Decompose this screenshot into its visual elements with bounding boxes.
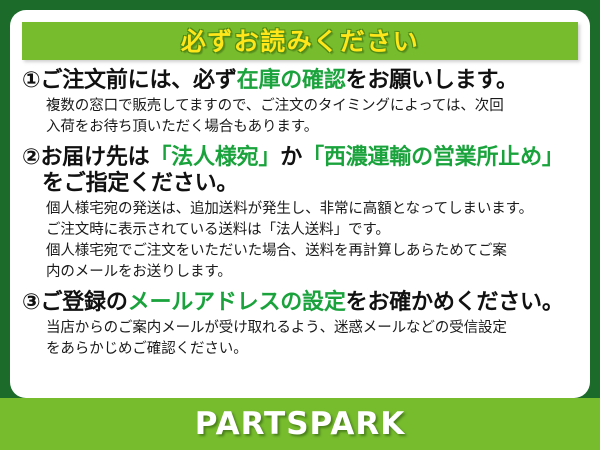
notice-list: ①ご注文前には、必ず在庫の確認をお願いします。複数の窓口で販売してますので、ご注… xyxy=(22,68,582,367)
detail-line: 複数の窓口で販売してますので、ご注文のタイミングによっては、次回 xyxy=(46,96,582,117)
notice-item-heading: ①ご注文前には、必ず在庫の確認をお願いします。 xyxy=(22,68,582,94)
detail-line: 当店からのご案内メールが受け取れるよう、迷惑メールなどの受信設定 xyxy=(46,318,582,339)
detail-line: 入荷をお待ち頂いただく場合もあります。 xyxy=(46,117,582,138)
heading-text: をお確かめください。 xyxy=(346,290,564,315)
heading-highlight: 「法人様宛」 xyxy=(149,145,280,170)
heading-highlight: 在庫の確認 xyxy=(237,68,346,93)
heading-text: ご注文前には、必ず xyxy=(40,68,236,93)
notice-item-detail: 複数の窓口で販売してますので、ご注文のタイミングによっては、次回入荷をお待ち頂い… xyxy=(22,96,582,138)
heading-text: ご登録の xyxy=(40,290,127,315)
brand-logo-text: PARTSPARK xyxy=(195,409,406,440)
notice-item-heading: ③ご登録のメールアドレスの設定をお確かめください。 xyxy=(22,290,582,316)
detail-line: 内のメールをお送りします。 xyxy=(46,262,582,283)
item-number-marker: ③ xyxy=(22,290,40,315)
heading-highlight: 「西濃運輸の営業所止め」 xyxy=(302,145,564,170)
notice-item: ③ご登録のメールアドレスの設定をお確かめください。当店からのご案内メールが受け取… xyxy=(22,290,582,360)
notice-banner: 必ずお読みください ①ご注文前には、必ず在庫の確認をお願いします。複数の窓口で販… xyxy=(0,0,600,450)
detail-line: 個人様宅宛の発送は、追加送料が発生し、非常に高額となってしまいます。 xyxy=(46,199,582,220)
notice-item: ②お届け先は「法人様宛」か「西濃運輸の営業所止め」をご指定ください。個人様宅宛の… xyxy=(22,145,582,283)
header-band: 必ずお読みください xyxy=(22,22,578,60)
heading-text: か xyxy=(280,145,302,170)
page-title: 必ずお読みください xyxy=(181,29,420,54)
heading-text: お届け先は xyxy=(40,145,149,170)
notice-item-detail: 当店からのご案内メールが受け取れるよう、迷惑メールなどの受信設定をあらかじめご確… xyxy=(22,318,582,360)
heading-continuation: をご指定ください。 xyxy=(22,171,582,197)
footer-band: PARTSPARK xyxy=(0,398,600,450)
content-panel: 必ずお読みください ①ご注文前には、必ず在庫の確認をお願いします。複数の窓口で販… xyxy=(10,10,590,398)
heading-text: をお願いします。 xyxy=(346,68,518,93)
notice-item-heading: ②お届け先は「法人様宛」か「西濃運輸の営業所止め」をご指定ください。 xyxy=(22,145,582,197)
heading-highlight: メールアドレスの設定 xyxy=(128,290,346,315)
detail-line: をあらかじめご確認ください。 xyxy=(46,339,582,360)
notice-item: ①ご注文前には、必ず在庫の確認をお願いします。複数の窓口で販売してますので、ご注… xyxy=(22,68,582,138)
notice-item-detail: 個人様宅宛の発送は、追加送料が発生し、非常に高額となってしまいます。ご注文時に表… xyxy=(22,199,582,283)
detail-line: 個人様宅宛でご注文をいただいた場合、送料を再計算しあらためてご案 xyxy=(46,241,582,262)
item-number-marker: ② xyxy=(22,145,40,170)
item-number-marker: ① xyxy=(22,68,40,93)
detail-line: ご注文時に表示されている送料は「法人送料」です。 xyxy=(46,220,582,241)
